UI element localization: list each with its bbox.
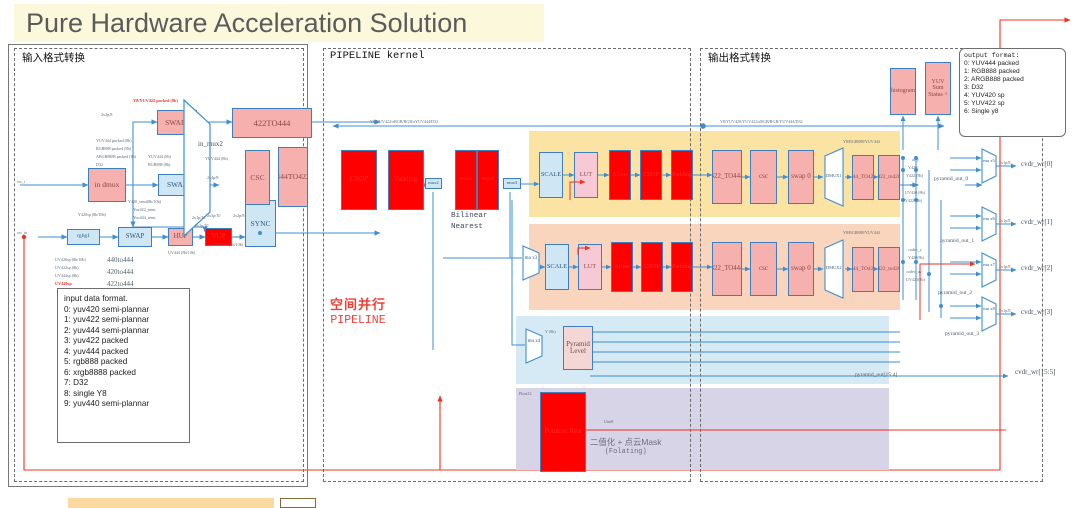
label-semi-1: Yuv422_semi: [133, 208, 156, 213]
input-format-legend: input data format. 0: yuv420 semi-planna…: [57, 288, 190, 443]
block-in-dmux[interactable]: in dmux: [88, 168, 126, 202]
label-semi-0: Y420_semi(8b/10b): [128, 200, 161, 205]
page-title-text: Pure Hardware Acceleration Solution: [26, 8, 467, 39]
block-out-444to422-y[interactable]: 444_TO422: [852, 155, 874, 200]
block-resize-b[interactable]: resize: [477, 150, 499, 210]
block-422to444[interactable]: 422TO444: [232, 108, 312, 138]
mask-note-en: (Folating): [590, 448, 661, 456]
block-crop2-orange[interactable]: CROP: [641, 242, 663, 292]
mux-x5[interactable]: [981, 148, 997, 184]
pipeline-group: [323, 48, 691, 482]
input-legend-item: 9: yuv440 semi-plannar: [64, 399, 183, 410]
writer-cvdr-wr-2: cvdr_wr[2]: [1021, 264, 1053, 272]
bottom-decoration-strip: [68, 498, 274, 508]
label-2x3p10: 2x3p/10: [207, 214, 220, 219]
label-bypass-top: Y8/YUV422/aRGB/RGB/aYUV444/D32: [370, 120, 438, 125]
label-src-in: src_in: [17, 231, 27, 236]
label-mid-1: RGB888 (8b): [148, 163, 170, 168]
output-group-label: 输出格式转换: [706, 50, 773, 65]
label-ai-y-0: ai_y: [912, 158, 919, 163]
label-2x2p10: 2x2p/10: [195, 224, 208, 229]
label-resize-nearest: Nearest: [451, 223, 483, 232]
label-rate-0: 2x1p/8: [999, 161, 1010, 166]
block-lut-yellow[interactable]: LUT: [574, 152, 598, 198]
mux2-small[interactable]: mux2: [425, 178, 442, 189]
label-mux-x5: mu x5: [983, 158, 995, 163]
block-out-422to420-y[interactable]: 422_to420: [878, 155, 900, 200]
input-legend-item: 4: yuv444 packed: [64, 347, 183, 358]
label-bus-y: Y8/RGB888/YUV444: [843, 140, 880, 145]
label-conv-2: 422to444: [107, 280, 133, 288]
bottom-decoration-box: [280, 498, 316, 508]
mask-note-cn: 二值化 + 点云Mask: [590, 436, 661, 448]
block-out-swap0-o[interactable]: swap 0: [788, 242, 814, 296]
label-rate-1: 2x1p/8: [999, 219, 1010, 224]
output-legend-item: 4: YUV420 sp: [964, 92, 1061, 100]
block-pyramid-level[interactable]: Pyramid Level: [563, 326, 593, 370]
block-crop[interactable]: CROP: [341, 150, 377, 210]
output-legend-item: 6: Single y8: [964, 108, 1061, 116]
writer-cvdr-wr-1: cvdr_wr[1]: [1021, 218, 1053, 226]
label-mux-x7: mu x7: [983, 262, 995, 267]
block-sync[interactable]: SYNC: [245, 200, 276, 247]
label-pyramid-out-2: pyramid_out_2: [938, 290, 972, 296]
block-padding[interactable]: Padding: [388, 150, 424, 210]
label-sp-0: UV420sp (8b/10b): [55, 258, 86, 263]
block-out-422to420-o[interactable]: 422_to420: [878, 247, 900, 292]
parallel-pipeline-note: 空间并行 PIPELINE: [330, 294, 386, 327]
label-dmux2: DMUX2: [826, 265, 842, 270]
mux3-small[interactable]: mux3: [503, 178, 521, 189]
label-y420sp: Y420sp (8b/10b): [78, 213, 106, 218]
label-uint8: Uint8: [604, 420, 613, 425]
label-packed-0: YUV444 packed (8b): [96, 139, 131, 144]
label-bus-o: Y8/RGB888/YUV444: [843, 231, 880, 236]
label-bypass-top-right: Y8/YUV420/YUV422/aRGB/RGB/YUV444/D32: [720, 120, 803, 125]
input-legend-item: 2: yuv444 semi-plannar: [64, 326, 183, 337]
output-legend-item: 1: RGB888 packed: [964, 68, 1061, 76]
input-legend-item: 8: single Y8: [64, 389, 183, 400]
output-legend-item: 5: YUV422 sp: [964, 100, 1061, 108]
label-codec-y-1: Y420(8b): [908, 256, 924, 261]
block-padding2-yellow[interactable]: Padding: [671, 150, 693, 200]
output-legend-item: 2: ARGB888 packed: [964, 76, 1061, 84]
label-in-mux2: in_mux2: [198, 140, 223, 148]
label-ai-uv-0: ai_uv: [910, 183, 919, 188]
mux-x4[interactable]: [525, 328, 543, 364]
input-legend-item: 6: xrgb8888 packed: [64, 368, 183, 379]
label-ai-uv-2: Y422 (8b): [905, 199, 922, 204]
label-uv444: UV444 (8b/10b): [168, 251, 195, 256]
label-pyramid-out-0: pyramid_out_0: [934, 176, 968, 182]
pipeline-group-label: PIPELINE kernel: [328, 50, 427, 62]
mask-note: 二值化 + 点云Mask (Folating): [590, 436, 661, 456]
mux-x8[interactable]: [981, 296, 997, 332]
label-mux-x6: mu x6: [983, 216, 995, 221]
label-top-red: Y8/YUV422 packed (8b): [133, 99, 178, 104]
output-legend-item: 0: YUV444 packed: [964, 60, 1061, 68]
label-packed-1: RGB888 packed (8b): [96, 147, 131, 152]
parallel-note-en: PIPELINE: [330, 314, 386, 327]
writer-cvdr-wr-bus: cvdr_wr[15:5]: [1015, 368, 1055, 376]
block-crop2-yellow[interactable]: CROP: [640, 150, 662, 200]
block-lut-orange[interactable]: LUT: [578, 244, 602, 290]
label-ai-uv-1: UV420 (8b): [905, 191, 925, 196]
label-resize-bilinear: Bilinear: [451, 212, 487, 221]
block-affine-orange[interactable]: Affine: [611, 242, 633, 292]
block-padding2-orange[interactable]: Padding: [671, 242, 693, 292]
label-dmux1: DMUX1: [826, 173, 842, 178]
mux-x7[interactable]: [981, 252, 997, 288]
label-pyramid-bus: pyramid_out[15:4]: [855, 372, 897, 378]
label-2x1p10: 2x1p/10: [192, 216, 205, 221]
label-pyramid-out-3: pyramid_out_3: [945, 331, 979, 337]
label-codec-y-0: codec_y: [908, 248, 922, 253]
block-rgbg1[interactable]: rgbg1: [67, 229, 100, 245]
label-ai-y-1: Y420/: [908, 166, 918, 171]
label-yuv444-8b: YUV444 (8b): [205, 157, 228, 162]
label-src-i: src_i: [17, 180, 25, 185]
label-codec-uv-1: UV420(8b): [906, 278, 925, 283]
block-out-csc-o[interactable]: csc: [750, 242, 777, 296]
output-legend-header: output format:: [964, 52, 1061, 60]
input-legend-header: input data format.: [64, 294, 183, 305]
label-pyramid-in: Y (8b): [545, 330, 556, 335]
input-legend-item: 0: yuv420 semi-plannar: [64, 305, 183, 316]
block-affine-yellow[interactable]: Affine: [609, 150, 631, 200]
block-out-csc-y[interactable]: csc: [750, 150, 777, 204]
block-yuv-sum-status[interactable]: YUV Sum Status +: [925, 62, 951, 115]
label-mux-x8: mu x8: [983, 306, 995, 311]
label-yuv444-810: YUV444 (8b/10b): [213, 243, 243, 248]
parallel-note-cn: 空间并行: [330, 294, 386, 313]
label-ai-y-2: Y422 (8b): [906, 174, 923, 179]
mux-x3[interactable]: [522, 245, 540, 281]
label-packed-2: ARGB8888 packed (8b): [96, 155, 136, 160]
writer-cvdr-wr-0: cvdr_wr[0]: [1021, 160, 1053, 168]
label-sp-1: UV422sp (8b): [55, 266, 79, 271]
block-csc-in[interactable]: CSC: [245, 150, 270, 205]
output-legend-item: 3: D32: [964, 84, 1061, 92]
label-conv-0: 440to444: [107, 256, 133, 264]
page-title: Pure Hardware Acceleration Solution: [14, 4, 544, 42]
label-rate-2: 2x1p/8: [999, 265, 1010, 270]
input-legend-item: 3: yuv422 packed: [64, 336, 183, 347]
label-sp-2: UV444sp (8b): [55, 274, 79, 279]
block-444to422[interactable]: 444TO422: [278, 147, 308, 207]
writer-cvdr-wr-3: cvdr_wr[3]: [1021, 308, 1053, 316]
block-scale-yellow[interactable]: SCALE: [539, 152, 563, 198]
input-legend-item: 5: rgb888 packed: [64, 357, 183, 368]
label-mid-0: YUV444 (8b): [148, 155, 171, 160]
block-out-422to444-o[interactable]: 422_TO444: [712, 242, 742, 296]
label-2x4p8: 2x4p/8: [207, 176, 218, 181]
label-sp-red: UV440sp: [55, 282, 72, 287]
label-semi-2: Yuv444_semi: [133, 216, 156, 221]
block-pointnet[interactable]: Pointnet Rest: [540, 392, 586, 472]
label-pyramid-out-1: pyramid_out_1: [940, 238, 974, 244]
label-packed-3: D32: [96, 163, 103, 168]
block-out-422to444-y[interactable]: 422_TO444: [712, 150, 742, 204]
block-resize-a[interactable]: resize: [455, 150, 477, 210]
label-rate-3: 2x1p/8: [999, 309, 1010, 314]
label-2x2p8b: 2x2p/8: [233, 214, 244, 219]
input-group-label: 输入格式转换: [20, 50, 87, 65]
label-codec-uv-0: codec_uv: [906, 270, 922, 275]
block-out-444to422-o[interactable]: 444_TO422: [852, 247, 874, 292]
label-mux-x3: mu x3: [524, 256, 538, 262]
input-legend-item: 1: yuv422 semi-plannar: [64, 315, 183, 326]
label-mux-x4: mu x4: [527, 339, 541, 345]
output-format-legend: output format: 0: YUV444 packed 1: RGB88…: [959, 48, 1066, 137]
block-scale-orange[interactable]: SCALE: [545, 244, 569, 290]
block-swap2[interactable]: SWAP: [118, 227, 152, 247]
mux-x6[interactable]: [981, 206, 997, 242]
block-histogram[interactable]: histogram: [890, 68, 916, 115]
label-float32: Float32: [519, 392, 532, 397]
input-legend-item: 7: D32: [64, 378, 183, 389]
label-2x2p8: 2x2p/8: [101, 113, 112, 118]
label-conv-1: 420to444: [107, 268, 133, 276]
block-out-swap0-y[interactable]: swap 0: [788, 150, 814, 204]
